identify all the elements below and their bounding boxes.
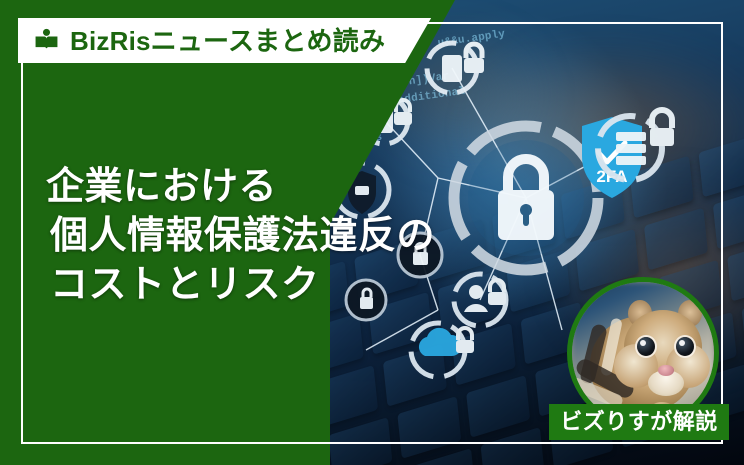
node-cloud	[411, 323, 474, 377]
title-line-2: 個人情報保護法違反の	[46, 212, 435, 261]
avatar-image	[572, 282, 714, 424]
page-title: 企業における 個人情報保護法違反の コストとリスク	[46, 163, 435, 310]
chipmunk-nose	[658, 365, 674, 376]
node-phone	[360, 96, 412, 144]
thumbnail-canvas: ngleException(e, um'function'==typeof u&…	[0, 0, 744, 465]
node-tablet	[427, 43, 484, 93]
chipmunk-eye-left	[637, 337, 655, 356]
caption-label: ビズりすが解説	[560, 411, 718, 433]
chipmunk-eye-right	[676, 337, 694, 356]
caption-bar: ビズりすが解説	[549, 404, 729, 440]
central-padlock-node	[454, 126, 598, 270]
title-line-3: コストとリスク	[46, 261, 435, 310]
book-icon	[34, 28, 59, 53]
title-line-1: 企業における	[46, 163, 435, 212]
series-badge-label: BizRisニュースまとめ読み	[70, 28, 385, 54]
series-badge[interactable]: BizRisニュースまとめ読み	[18, 18, 431, 63]
